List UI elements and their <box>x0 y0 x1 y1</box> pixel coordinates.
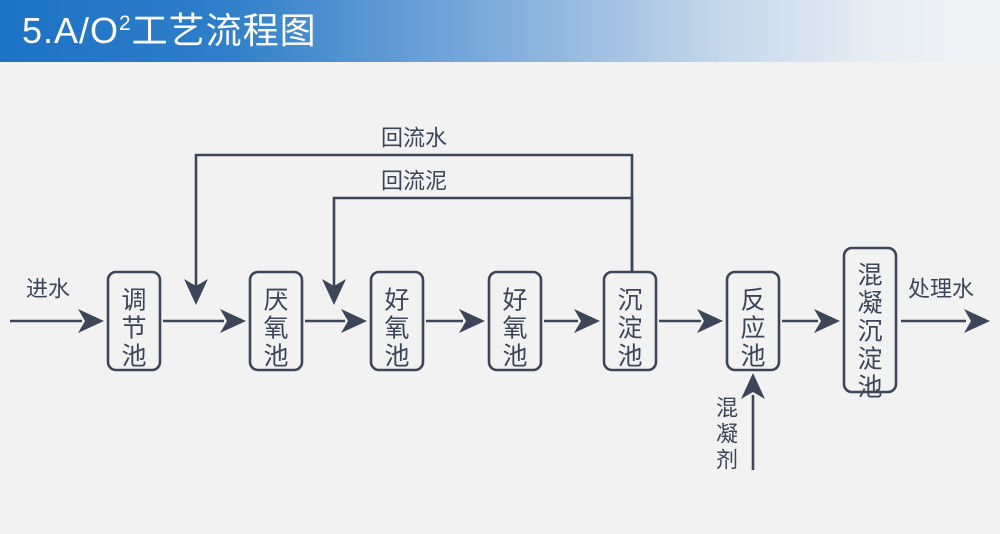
effluent-label: 处理水 <box>908 278 974 303</box>
title-prefix: 5.A/O <box>22 10 119 51</box>
influent-label: 进水 <box>26 278 70 303</box>
tank-haoyang-2[interactable]: 好 氧 池 <box>489 272 541 371</box>
flowchart-page: 5.A/O2工艺流程图 回流水 回流泥 <box>0 0 1000 534</box>
tank-hunning-chendian[interactable]: 混 凝 沉 淀 池 <box>844 248 896 402</box>
effluent-arrow <box>901 309 990 333</box>
title-suffix: 工艺流程图 <box>132 10 317 51</box>
tank-haoyang-1[interactable]: 好 氧 池 <box>371 272 423 371</box>
tank-fanying-char-2: 池 <box>740 342 765 371</box>
tank-chendian-char-0: 沉 <box>617 286 642 315</box>
tank-hunning-char-3: 淀 <box>857 345 882 374</box>
coagulant-label: 混 凝 剂 <box>716 397 738 474</box>
return-sludge-path <box>322 198 632 305</box>
tank-chendian-char-1: 淀 <box>617 314 642 343</box>
coagulant-char-1: 凝 <box>716 423 738 448</box>
tank-yanyang-char-1: 氧 <box>263 314 288 343</box>
tank-fanying[interactable]: 反 应 池 <box>727 272 779 371</box>
coagulant-char-0: 混 <box>716 397 738 422</box>
tank-haoyang-2-char-0: 好 <box>502 286 527 315</box>
tank-fanying-char-1: 应 <box>740 314 765 343</box>
connector-haoyang2-chendian <box>544 309 600 333</box>
tank-chendian[interactable]: 沉 淀 池 <box>604 272 656 371</box>
influent-arrow <box>10 309 104 333</box>
tank-tiaojie-char-1: 节 <box>121 314 146 343</box>
title-superscript: 2 <box>119 12 132 35</box>
page-header: 5.A/O2工艺流程图 <box>0 0 1000 62</box>
return-sludge-label: 回流泥 <box>381 170 447 195</box>
tank-haoyang-1-char-1: 氧 <box>384 314 409 343</box>
tank-hunning-char-0: 混 <box>857 261 882 290</box>
page-title: 5.A/O2工艺流程图 <box>22 13 317 49</box>
connector-chendian-fanying <box>659 309 723 333</box>
process-flow-diagram: 回流水 回流泥 进水 <box>0 62 1000 534</box>
tank-yanyang-char-2: 池 <box>263 342 288 371</box>
tank-tiaojie-char-2: 池 <box>121 342 146 371</box>
coagulant-arrow <box>741 373 765 470</box>
tank-tiaojie-char-0: 调 <box>121 286 146 315</box>
connector-yanyang-haoyang1 <box>305 309 367 333</box>
tank-haoyang-2-char-2: 池 <box>502 342 527 371</box>
tank-haoyang-2-char-1: 氧 <box>502 314 527 343</box>
connector-tiaojie-yanyang <box>163 309 246 333</box>
tank-hunning-char-1: 凝 <box>857 289 882 318</box>
tank-fanying-char-0: 反 <box>740 286 765 315</box>
coagulant-char-2: 剂 <box>716 449 738 474</box>
effluent-arrowhead <box>964 309 990 333</box>
tank-haoyang-1-char-2: 池 <box>384 342 409 371</box>
tank-chendian-char-2: 池 <box>617 342 642 371</box>
tank-yanyang-char-0: 厌 <box>263 286 288 315</box>
connector-haoyang1-haoyang2 <box>426 309 485 333</box>
tank-hunning-char-2: 沉 <box>857 317 882 346</box>
return-water-label: 回流水 <box>381 127 447 152</box>
tank-hunning-char-4: 池 <box>857 373 882 402</box>
tank-tiaojie[interactable]: 调 节 池 <box>108 272 160 371</box>
connector-fanying-hunning <box>782 309 840 333</box>
tank-yanyang[interactable]: 厌 氧 池 <box>250 272 302 371</box>
tank-haoyang-1-char-0: 好 <box>384 286 409 315</box>
